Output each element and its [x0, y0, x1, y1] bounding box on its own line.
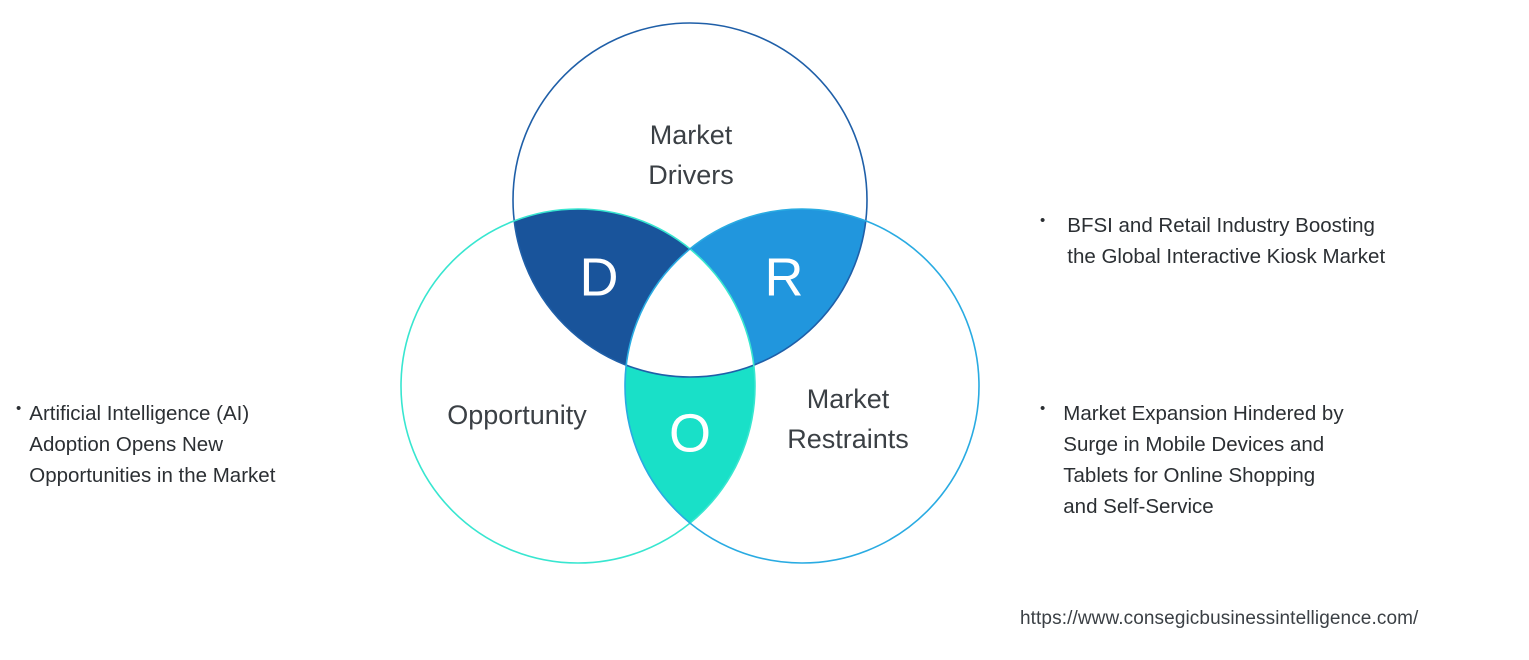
venn-diagram: D R O Market Drivers Opportunity Market …	[380, 18, 1000, 578]
bullet-icon: •	[16, 398, 21, 417]
label-market-restraints-line2: Restraints	[787, 424, 909, 454]
label-market-drivers-line2: Drivers	[648, 160, 734, 190]
venn-svg: D R O Market Drivers Opportunity Market …	[380, 18, 1000, 578]
callout-opportunity: • Artificial Intelligence (AI) Adoption …	[16, 398, 366, 491]
label-market-restraints-line1: Market	[807, 384, 890, 414]
bullet-icon: •	[1040, 210, 1045, 229]
callout-restraints: • Market Expansion Hindered by Surge in …	[1040, 398, 1510, 523]
label-opportunity: Opportunity	[447, 400, 587, 430]
bullet-icon: •	[1040, 398, 1045, 417]
callout-drivers: • BFSI and Retail Industry Boosting the …	[1040, 210, 1510, 272]
callout-opportunity-text: Artificial Intelligence (AI) Adoption Op…	[29, 398, 275, 491]
source-url[interactable]: https://www.consegicbusinessintelligence…	[1020, 608, 1418, 630]
venn-letter-r: R	[765, 247, 804, 307]
venn-letter-d: D	[580, 247, 619, 307]
label-market-drivers-line1: Market	[650, 120, 733, 150]
callout-drivers-text: BFSI and Retail Industry Boosting the Gl…	[1067, 210, 1385, 272]
callout-restraints-text: Market Expansion Hindered by Surge in Mo…	[1063, 398, 1343, 523]
venn-letter-o: O	[669, 403, 711, 463]
